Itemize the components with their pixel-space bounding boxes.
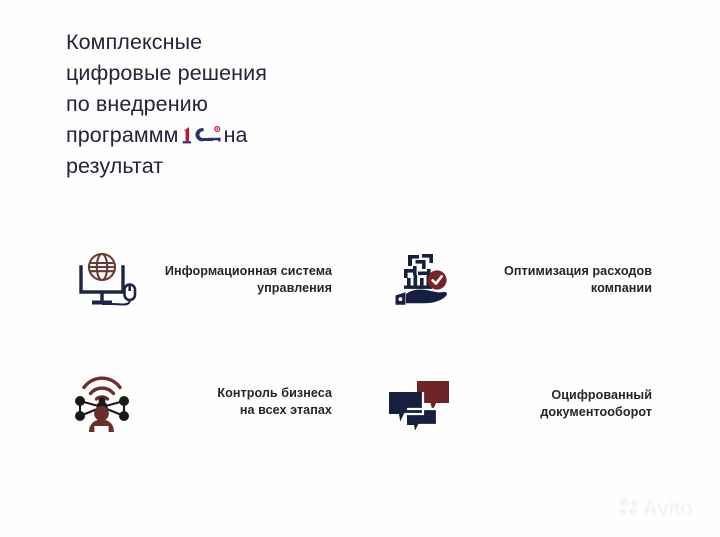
- monitor-globe-icon: [70, 244, 142, 316]
- feature-label-line-2: управления: [156, 280, 332, 298]
- avito-logo-icon: [618, 496, 640, 521]
- feature-label-line-2: на всех этапах: [158, 402, 332, 420]
- feature-label-line-2: компании: [476, 280, 652, 298]
- feature-item-information-system: Информационная система управления: [70, 244, 332, 316]
- feature-label-line-1: Информационная система: [156, 263, 332, 281]
- feature-item-cost-optimization: Оптимизация расходов компании: [388, 244, 652, 316]
- speech-bubbles-icon: [384, 368, 456, 440]
- feature-label-line-1: Контроль бизнеса: [158, 385, 332, 403]
- feature-label-line-1: Оцифрованный: [482, 387, 652, 405]
- feature-label: Оцифрованный документооборот: [482, 387, 652, 422]
- feature-label: Контроль бизнеса на всех этапах: [158, 385, 332, 420]
- feature-item-business-control: Контроль бизнеса на всех этапах: [68, 366, 332, 438]
- feature-label-line-2: документооборот: [482, 404, 652, 422]
- avito-watermark: Avito: [618, 496, 693, 521]
- feature-item-digital-documents: Оцифрованный документооборот: [384, 368, 652, 440]
- feature-label: Информационная система управления: [156, 263, 332, 298]
- page-canvas: Комплексные цифровые решения по внедрени…: [0, 0, 720, 537]
- network-person-wifi-icon: [68, 366, 140, 438]
- feature-label: Оптимизация расходов компании: [476, 263, 652, 298]
- avito-wordmark: Avito: [643, 498, 693, 519]
- feature-label-line-1: Оптимизация расходов: [476, 263, 652, 281]
- feature-grid: Информационная система управления: [0, 0, 720, 537]
- hand-blocks-check-icon: [388, 244, 460, 316]
